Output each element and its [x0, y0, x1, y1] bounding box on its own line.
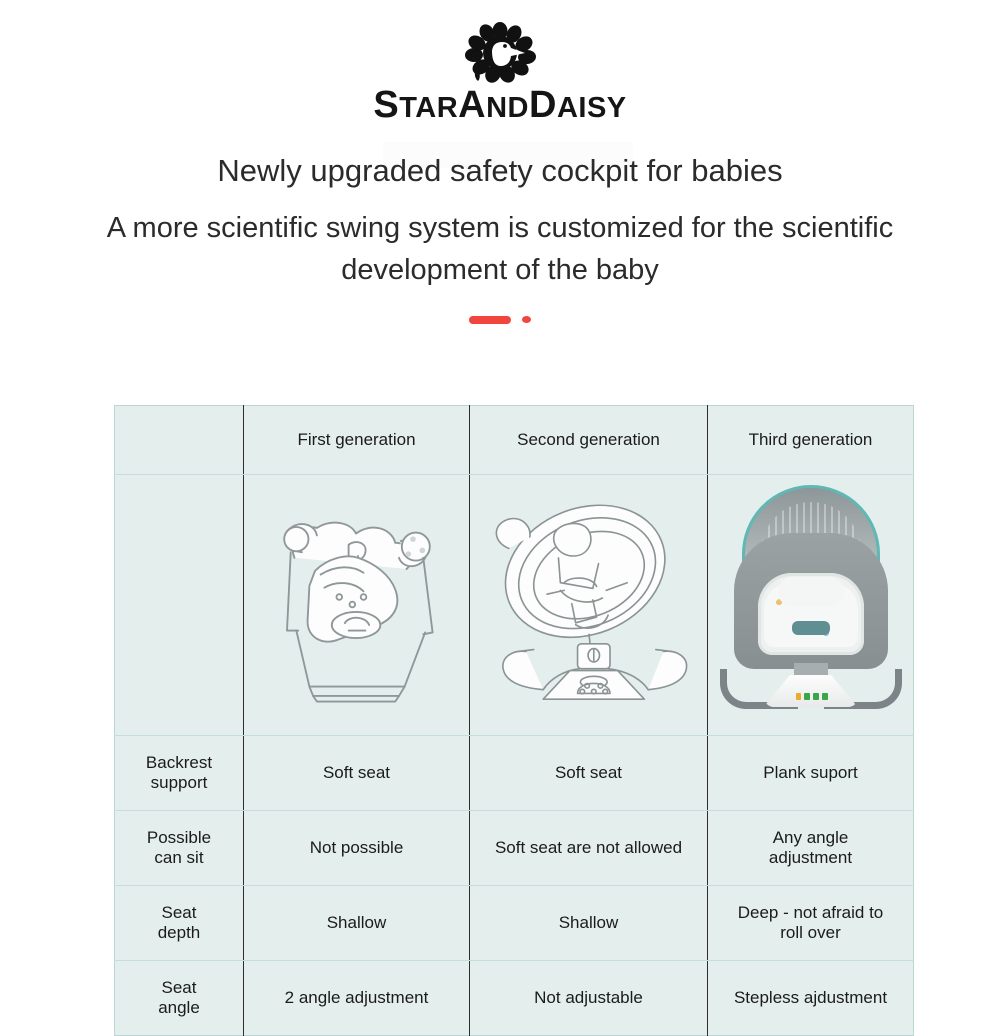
second-generation-bouncer-illustration [474, 481, 703, 729]
cell-angle-third-generation: Stepless ajdustment [708, 961, 914, 1036]
cell-backrest-first-generation: Soft seat [244, 736, 470, 811]
cell-backrest-second-generation: Soft seat [470, 736, 708, 811]
table-header-row: First generation Second generation Third… [115, 406, 914, 475]
row-label-seat-depth: Seat depth [115, 886, 244, 961]
row-label-line-1: Seat [162, 978, 197, 997]
row-label-backrest-support: Backrest support [115, 736, 244, 811]
daisy-bird-logo-icon [462, 22, 538, 84]
headline-primary: Newly upgraded safety cockpit for babies [40, 152, 960, 191]
headline-block: Newly upgraded safety cockpit for babies… [0, 152, 1000, 327]
row-label-line-2: angle [158, 998, 200, 1017]
brand-header: STARANDDAISY [0, 0, 1000, 124]
row-label-line-2: depth [158, 923, 201, 942]
gen3-safety-belt [792, 621, 830, 635]
cell-cansit-third-generation: Any angle adjustment [708, 811, 914, 886]
third-generation-swing-photo [712, 481, 909, 729]
row-label-seat-angle: Seat angle [115, 961, 244, 1036]
cell-first-generation-image [244, 475, 470, 736]
cell-angle-first-generation: 2 angle adjustment [244, 961, 470, 1036]
brand-letter-d: D [529, 84, 557, 126]
cell-line-2: roll over [780, 923, 840, 942]
comparison-table-container: First generation Second generation Third… [114, 405, 886, 1036]
header-cell-first-generation: First generation [244, 406, 470, 475]
row-label-possible-can-sit: Possible can sit [115, 811, 244, 886]
cell-depth-third-generation: Deep - not afraid to roll over [708, 886, 914, 961]
cell-third-generation-image [708, 475, 914, 736]
row-label-line-2: can sit [154, 848, 203, 867]
table-row: Backrest support Soft seat Soft seat Pla… [115, 736, 914, 811]
brand-text-aisy: AISY [557, 92, 627, 124]
cell-cansit-first-generation: Not possible [244, 811, 470, 886]
image-row-label [115, 475, 244, 736]
brand-text-nd: ND [486, 92, 529, 124]
gen3-head-pillow [778, 577, 844, 607]
header-cell-third-generation: Third generation [708, 406, 914, 475]
cell-line-1: Any angle [773, 828, 849, 847]
row-label-line-1: Possible [147, 828, 211, 847]
cell-line-1: Deep - not afraid to [738, 903, 884, 922]
cell-depth-second-generation: Shallow [470, 886, 708, 961]
brand-letter-s: S [373, 84, 399, 126]
headline-secondary: A more scientific swing system is custom… [40, 207, 960, 291]
red-bar-divider-icon [469, 316, 511, 324]
cell-backrest-third-generation: Plank suport [708, 736, 914, 811]
gen3-control-leds [796, 692, 828, 700]
cell-line-2: adjustment [769, 848, 852, 867]
red-dot-divider-icon [522, 316, 531, 323]
table-row: Seat depth Shallow Shallow Deep - not af… [115, 886, 914, 961]
brand-letter-a: A [458, 84, 486, 126]
header-cell-blank [115, 406, 244, 475]
table-image-row [115, 475, 914, 736]
cell-second-generation-image [470, 475, 708, 736]
cell-cansit-second-generation: Soft seat are not allowed [470, 811, 708, 886]
table-row: Possible can sit Not possible Soft seat … [115, 811, 914, 886]
section-divider [40, 313, 960, 327]
cell-depth-first-generation: Shallow [244, 886, 470, 961]
generation-comparison-table: First generation Second generation Third… [114, 405, 914, 1036]
table-row: Seat angle 2 angle adjustment Not adjust… [115, 961, 914, 1036]
row-label-line-1: Backrest [146, 753, 212, 772]
row-label-line-2: support [151, 773, 208, 792]
header-cell-second-generation: Second generation [470, 406, 708, 475]
cell-angle-second-generation: Not adjustable [470, 961, 708, 1036]
first-generation-swing-illustration [248, 481, 465, 729]
brand-text-tar: TAR [399, 92, 458, 124]
row-label-line-1: Seat [162, 903, 197, 922]
brand-wordmark: STARANDDAISY [373, 86, 626, 124]
